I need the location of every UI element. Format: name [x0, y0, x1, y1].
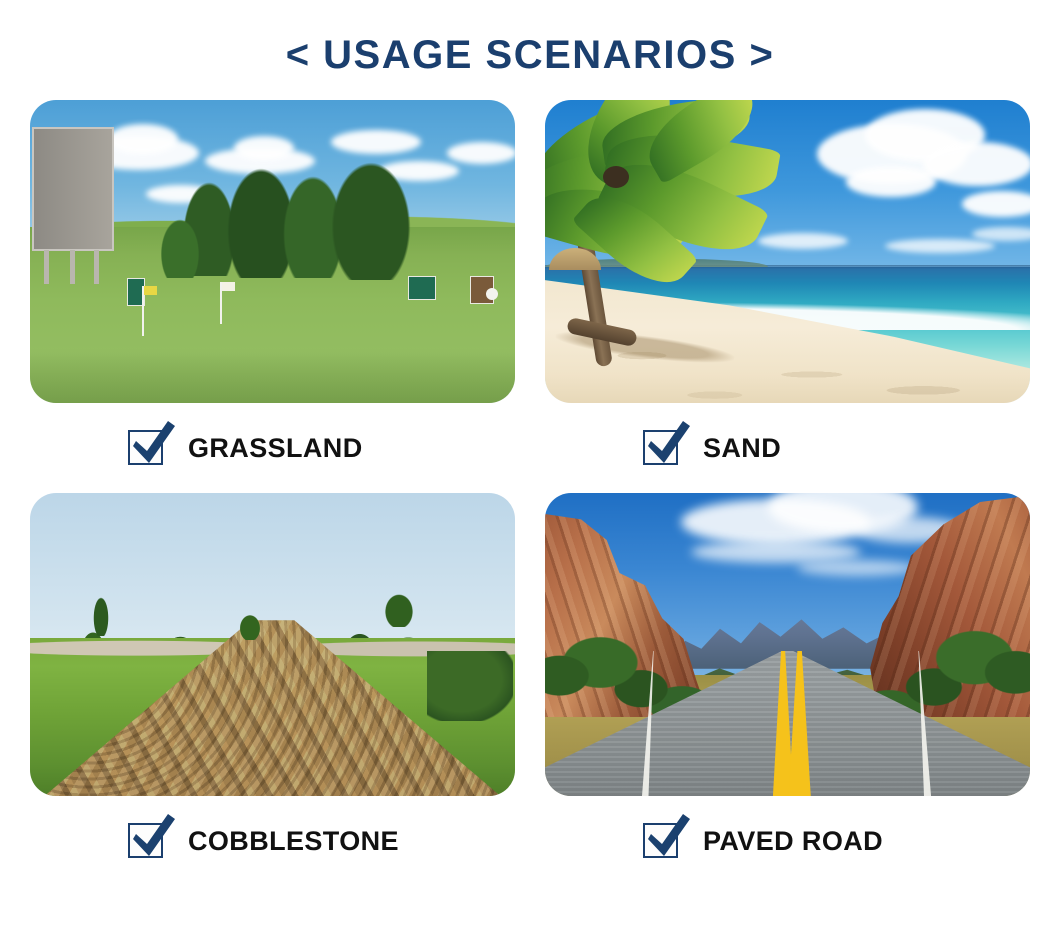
caption-sand: SAND — [545, 403, 1030, 493]
scenario-label-cobblestone: COBBLESTONE — [188, 826, 399, 857]
scenario-grid: GRASSLAND — [0, 100, 1060, 886]
page-title: < USAGE SCENARIOS > — [286, 33, 775, 78]
checkbox-checked-icon[interactable] — [128, 821, 168, 861]
scenario-card-cobblestone[interactable]: COBBLESTONE — [30, 493, 515, 886]
scenario-image-sand — [545, 100, 1030, 403]
billboard — [32, 127, 114, 251]
scenario-label-paved-road: PAVED ROAD — [703, 826, 883, 857]
checkbox-checked-icon[interactable] — [643, 428, 683, 468]
scenario-card-sand[interactable]: SAND — [545, 100, 1030, 493]
caption-paved-road: PAVED ROAD — [545, 796, 1030, 886]
scenario-label-grassland: GRASSLAND — [188, 433, 363, 464]
scenario-image-grassland — [30, 100, 515, 403]
header: < USAGE SCENARIOS > — [0, 0, 1060, 78]
scenario-image-cobblestone — [30, 493, 515, 796]
checkbox-checked-icon[interactable] — [643, 821, 683, 861]
scenario-card-paved-road[interactable]: PAVED ROAD — [545, 493, 1030, 886]
caption-grassland: GRASSLAND — [30, 403, 515, 493]
caption-cobblestone: COBBLESTONE — [30, 796, 515, 886]
checkbox-checked-icon[interactable] — [128, 428, 168, 468]
scenario-label-sand: SAND — [703, 433, 781, 464]
scenario-card-grassland[interactable]: GRASSLAND — [30, 100, 515, 493]
scenario-image-paved-road — [545, 493, 1030, 796]
